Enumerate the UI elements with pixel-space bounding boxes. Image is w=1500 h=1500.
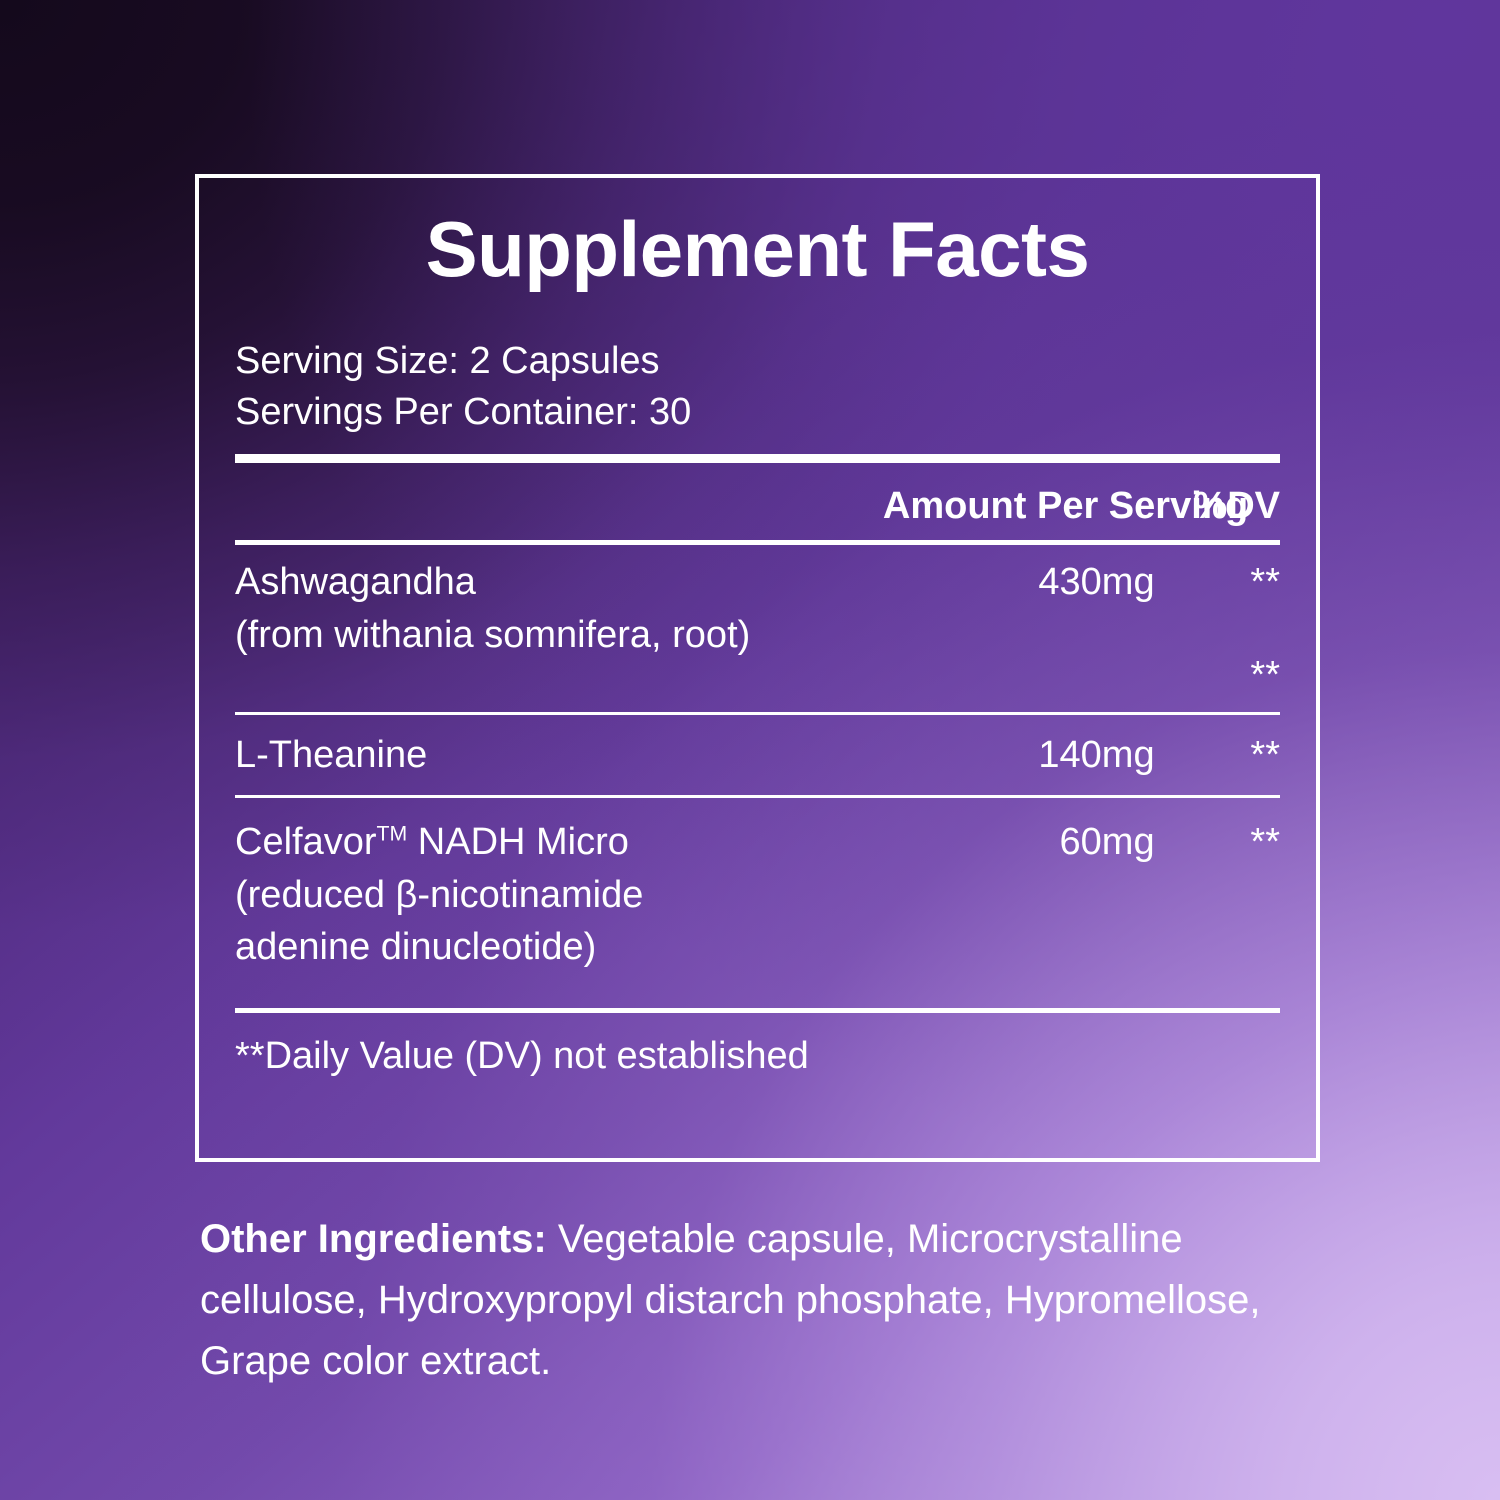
supplement-facts-panel: Supplement Facts Serving Size: 2 Capsule…	[195, 174, 1320, 1162]
other-ingredients-block: Other Ingredients: Vegetable capsule, Mi…	[200, 1209, 1310, 1393]
nutrient-name-ashwagandha: Ashwagandha (from withania somnifera, ro…	[235, 545, 883, 712]
nutrient-amount-ashwagandha: 430mg	[883, 545, 1155, 712]
nutrient-name-celfavor-nadh-micro: CelfavorTM NADH Micro (reduced β-nicotin…	[235, 798, 883, 1007]
celfavor-brand: Celfavor	[235, 821, 377, 863]
daily-value-footnote: **Daily Value (DV) not established	[235, 1035, 1280, 1078]
celfavor-suffix: NADH Micro	[407, 821, 629, 863]
header-blank	[235, 463, 883, 540]
rule-under-serving-info	[235, 454, 1280, 463]
trademark-icon: TM	[377, 822, 408, 846]
nutrient-amount-celfavor: 60mg	[883, 798, 1155, 1007]
celfavor-chem-line2: adenine dinucleotide)	[235, 926, 596, 968]
rule-above-footnote	[235, 1008, 1280, 1013]
nutrient-amount-l-theanine: 140mg	[883, 715, 1155, 795]
nutrient-dv-celfavor: **	[1155, 798, 1280, 1007]
page-title: Supplement Facts	[235, 210, 1280, 288]
serving-info: Serving Size: 2 Capsules Servings Per Co…	[235, 336, 1280, 437]
ashwagandha-source: (from withania somnifera, root)	[235, 614, 750, 656]
table-row: L-Theanine 140mg **	[235, 715, 1280, 795]
celfavor-chem-line1: (reduced β-nicotinamide	[235, 874, 643, 916]
nutrient-dv-l-theanine: **	[1155, 715, 1280, 795]
other-ingredients-label: Other Ingredients:	[200, 1217, 547, 1261]
servings-per-container: Servings Per Container: 30	[235, 387, 1280, 438]
nutrient-name-l-theanine: L-Theanine	[235, 715, 883, 795]
dv-marker-primary: **	[1250, 561, 1280, 603]
table-row: CelfavorTM NADH Micro (reduced β-nicotin…	[235, 798, 1280, 1007]
ashwagandha-label: Ashwagandha	[235, 561, 476, 603]
table-header-row: Amount Per Serving %DV	[235, 463, 1280, 540]
panel-inner: Supplement Facts Serving Size: 2 Capsule…	[235, 178, 1280, 1158]
header-amount-per-serving: Amount Per Serving	[883, 463, 1155, 540]
nutrient-dv-ashwagandha: ** **	[1155, 545, 1280, 712]
serving-size: Serving Size: 2 Capsules	[235, 336, 1280, 387]
table-row: Ashwagandha (from withania somnifera, ro…	[235, 545, 1280, 712]
dv-marker-secondary: **	[1155, 649, 1280, 701]
rule-row-bottom	[235, 1008, 1280, 1013]
nutrition-table: Amount Per Serving %DV Ashwagandha (from…	[235, 463, 1280, 1013]
supplement-facts-image: Supplement Facts Serving Size: 2 Capsule…	[0, 0, 1500, 1500]
